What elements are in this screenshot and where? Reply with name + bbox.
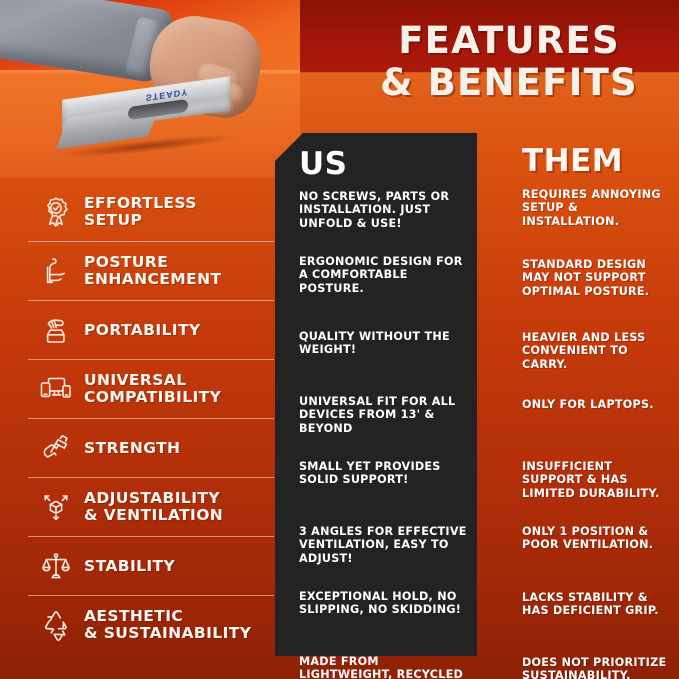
them-cell: HEAVIER AND LESS CONVENIENT TO CARRY. (522, 331, 674, 371)
us-cell: EXCEPTIONAL HOLD, NO SLIPPING, NO SKIDDI… (299, 590, 467, 617)
feature-list: EFFORTLESSSETUP POSTUREENHANCEMENT (28, 183, 274, 654)
feature-item-adjustability-ventilation: ADJUSTABILITY& VENTILATION (28, 477, 274, 536)
balance-scale-icon (28, 549, 84, 583)
devices-icon (28, 372, 84, 406)
us-cell: ERGONOMIC DESIGN FOR A COMFORTABLE POSTU… (299, 255, 467, 295)
feature-label: EFFORTLESSSETUP (84, 195, 197, 229)
them-cell: DOES NOT PRIORITIZE SUSTAINABILITY. (522, 656, 674, 679)
title-line-1: FEATURES (358, 20, 660, 62)
feature-item-portability: PORTABILITY (28, 300, 274, 359)
page-title: FEATURES & BENEFITS (358, 20, 660, 104)
feature-item-posture-enhancement: POSTUREENHANCEMENT (28, 241, 274, 300)
hand-pocket-icon (28, 313, 84, 347)
strong-arm-hammer-icon (28, 431, 84, 465)
us-cell: MADE FROM LIGHTWEIGHT, RECYCLED PLASTIC. (299, 655, 467, 679)
them-cell: INSUFFICIENT SUPPORT & HAS LIMITED DURAB… (522, 460, 674, 500)
feature-label: POSTUREENHANCEMENT (84, 254, 221, 288)
feature-item-aesthetic-sustainability: AESTHETIC& SUSTAINABILITY (28, 595, 274, 654)
feature-label: AESTHETIC& SUSTAINABILITY (84, 608, 251, 642)
feature-label: ADJUSTABILITY& VENTILATION (84, 490, 223, 524)
us-cell: UNIVERSAL FIT FOR ALL DEVICES FROM 13' &… (299, 395, 467, 435)
award-badge-icon (28, 195, 84, 229)
us-column-heading: US (299, 146, 348, 182)
them-column-heading: THEM (522, 143, 623, 179)
us-cell: NO SCREWS, PARTS OR INSTALLATION. JUST U… (299, 190, 467, 230)
us-cell: SMALL YET PROVIDES SOLID SUPPORT! (299, 460, 467, 487)
product-photo: STEADY (0, 0, 300, 178)
features-benefits-poster: STEADY FEATURES & BENEFITS EFFORTLESSSET… (0, 0, 679, 679)
feature-label: PORTABILITY (84, 322, 201, 339)
feature-label: UNIVERSALCOMPATIBILITY (84, 372, 221, 406)
them-cell: REQUIRES ANNOYING SETUP & INSTALLATION. (522, 188, 674, 228)
ergonomic-chair-icon (28, 254, 84, 288)
title-line-2: & BENEFITS (358, 62, 660, 104)
feature-label: STRENGTH (84, 440, 180, 457)
feature-item-effortless-setup: EFFORTLESSSETUP (28, 183, 274, 241)
recycle-icon (28, 608, 84, 642)
feature-item-universal-compatibility: UNIVERSALCOMPATIBILITY (28, 359, 274, 418)
feature-label: STABILITY (84, 558, 175, 575)
them-cell: LACKS STABILITY & HAS DEFICIENT GRIP. (522, 591, 674, 618)
feature-item-stability: STABILITY (28, 536, 274, 595)
us-cell: QUALITY WITHOUT THE WEIGHT! (299, 330, 467, 357)
them-cell: STANDARD DESIGN MAY NOT SUPPORT OPTIMAL … (522, 258, 674, 298)
us-cell: 3 ANGLES FOR EFFECTIVE VENTILATION, EASY… (299, 525, 467, 565)
box-arrows-icon (28, 490, 84, 524)
them-cell: ONLY FOR LAPTOPS. (522, 398, 674, 411)
them-cell: ONLY 1 POSITION & POOR VENTILATION. (522, 525, 674, 552)
feature-item-strength: STRENGTH (28, 418, 274, 477)
